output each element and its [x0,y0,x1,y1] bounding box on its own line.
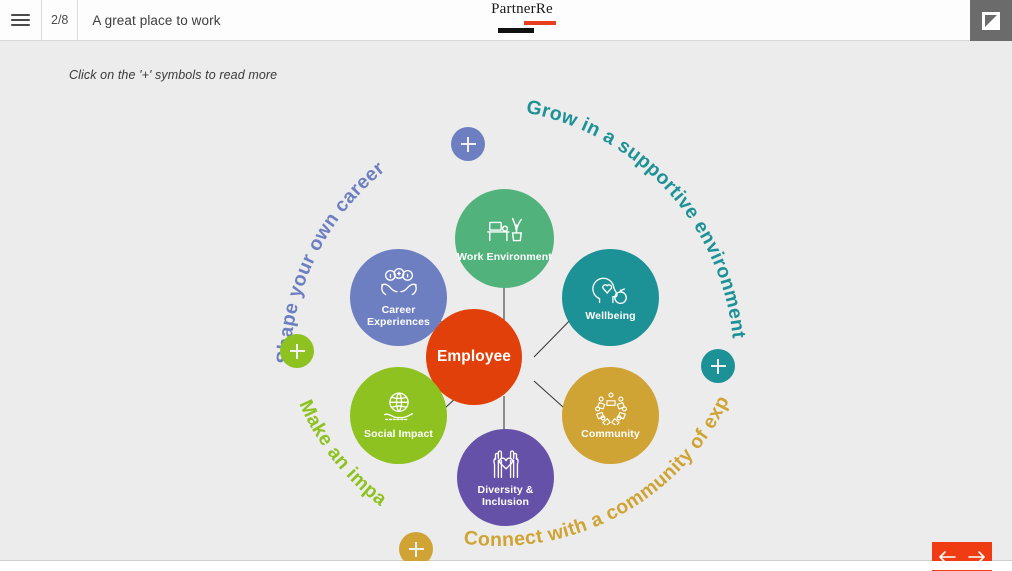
hamburger-menu-button[interactable] [0,0,41,40]
employee-wheel-diagram: Shape your own career Grow in a supporti… [232,46,782,556]
desk-plant-icon [484,214,526,248]
plus-button-career[interactable] [451,127,485,161]
node-wellbeing[interactable]: Wellbeing [562,249,659,346]
globe-hand-icon [378,391,420,425]
plus-button-wellbeing[interactable] [701,349,735,383]
partnerre-logo: PartnerRe [462,2,582,34]
node-employee-label: Employee [437,348,511,366]
brand-name: PartnerRe [462,2,582,18]
slide-canvas: Click on the '+' symbols to read more Sh… [0,41,1012,561]
fullscreen-button[interactable] [970,0,1012,41]
node-diversity-inclusion-label: Diversity & Inclusion [457,484,554,508]
node-work-environment-label: Work Environment [457,251,552,263]
document-title: A great place to work [78,0,234,40]
node-career-experiences[interactable]: Career Experiences [350,249,447,346]
node-social-impact[interactable]: Social Impact [350,367,447,464]
node-diversity-inclusion[interactable]: Diversity & Inclusion [457,429,554,526]
node-work-environment[interactable]: Work Environment [455,189,554,288]
head-heart-icon [590,273,632,307]
brand-bar-black [498,28,534,33]
hands-heart-icon [485,447,527,481]
node-career-experiences-label: Career Experiences [350,304,447,328]
people-ring-icon [590,391,632,425]
brand-bar-red [524,21,556,25]
brand-accent-bars [462,20,582,34]
footer-strip [0,561,1012,570]
node-community[interactable]: Community [562,367,659,464]
node-wellbeing-label: Wellbeing [585,310,635,322]
page-counter: 2/8 [42,0,77,40]
node-community-label: Community [581,428,640,440]
top-toolbar: 2/8 A great place to work PartnerRe [0,0,1012,41]
hamburger-icon [11,11,30,29]
plus-button-social-impact[interactable] [280,334,314,368]
node-social-impact-label: Social Impact [364,428,433,440]
fullscreen-icon [982,12,1000,30]
hands-skills-icon [378,267,420,301]
